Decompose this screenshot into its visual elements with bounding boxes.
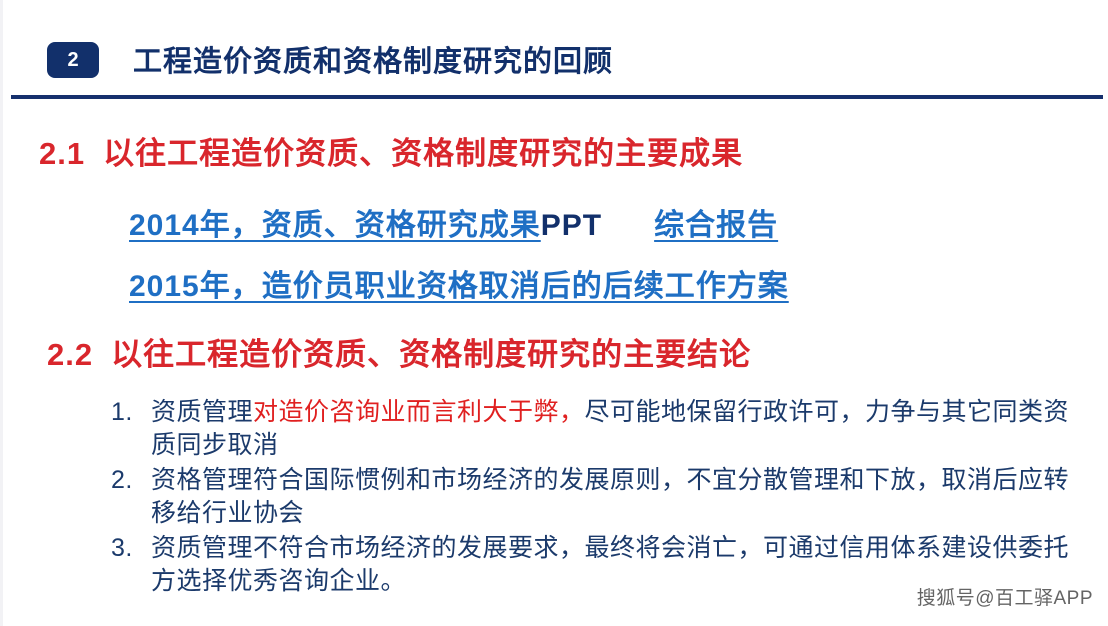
link-2014-research-results[interactable]: 2014年，资质、资格研究成果	[129, 209, 541, 242]
header-divider	[11, 95, 1103, 99]
section-number-2-2: 2.2	[47, 337, 93, 372]
section-title-2-1: 以往工程造价资质、资格制度研究的主要成果	[103, 136, 743, 171]
section-number-badge: 2	[47, 42, 99, 78]
section-heading-2-2: 2.2以往工程造价资质、资格制度研究的主要结论	[47, 329, 751, 374]
list-item: 2.资格管理符合国际惯例和市场经济的发展原则，不宜分散管理和下放，取消后应转移给…	[111, 464, 1071, 530]
list-item: 1.资质管理对造价咨询业而言利大于弊，尽可能地保留行政许可，力争与其它同类资质同…	[111, 396, 1071, 462]
link-comprehensive-report[interactable]: 综合报告	[654, 209, 778, 242]
watermark-text: 搜狐号@百工驿APP	[917, 583, 1093, 610]
list-item-text-emphasis: 对造价咨询业而言利大于弊，	[253, 398, 585, 426]
list-item-text-lead: 资质管理	[151, 398, 253, 426]
section-title-2-2: 以往工程造价资质、资格制度研究的主要结论	[111, 337, 751, 372]
conclusions-list: 1.资质管理对造价咨询业而言利大于弊，尽可能地保留行政许可，力争与其它同类资质同…	[111, 396, 1071, 600]
section-heading-2-1: 2.1以往工程造价资质、资格制度研究的主要成果	[39, 128, 743, 173]
link-row-2014: 2014年，资质、资格研究成果PPT综合报告	[129, 200, 778, 244]
page-title: 工程造价资质和资格制度研究的回顾	[133, 38, 613, 80]
list-item-number: 1.	[111, 396, 145, 429]
list-item-number: 3.	[111, 532, 145, 565]
list-item-number: 2.	[111, 464, 145, 497]
section-number-2-1: 2.1	[39, 136, 85, 171]
list-item-text-lead: 资格管理符合国际惯例和市场经济的发展原则，不宜分散管理和下放，取消后应转移给行业…	[151, 466, 1069, 527]
slide-canvas: 2 工程造价资质和资格制度研究的回顾 2.1以往工程造价资质、资格制度研究的主要…	[0, 0, 1108, 626]
link-row-2015: 2015年，造价员职业资格取消后的后续工作方案	[129, 261, 789, 305]
slide-header: 2 工程造价资质和资格制度研究的回顾	[3, 0, 1108, 104]
link-2015-followup-plan[interactable]: 2015年，造价员职业资格取消后的后续工作方案	[129, 270, 789, 303]
link-2014-ppt-suffix[interactable]: PPT	[541, 209, 602, 242]
